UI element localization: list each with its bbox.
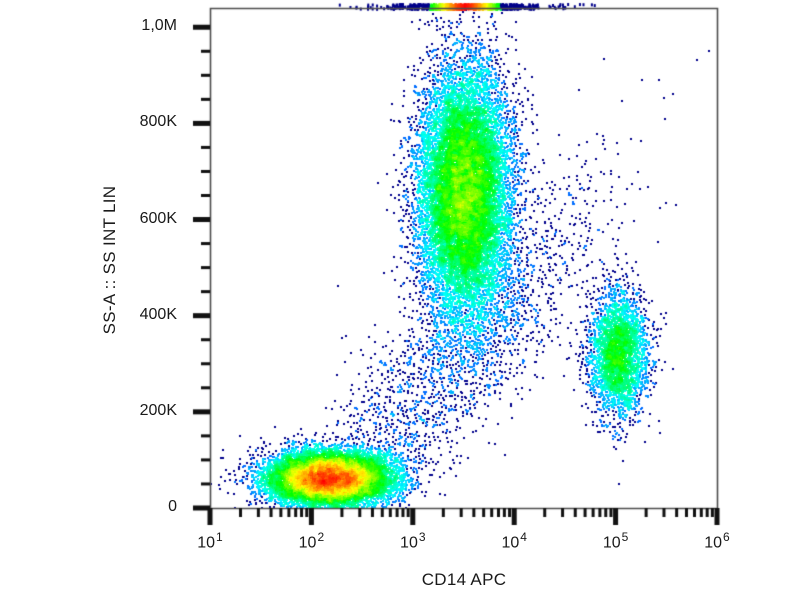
x-tick-label: 106 <box>687 530 747 552</box>
x-tick-label: 101 <box>180 530 240 552</box>
x-axis-title: CD14 APC <box>210 570 718 590</box>
x-tick-label: 104 <box>484 530 544 552</box>
x-tick-label: 105 <box>586 530 646 552</box>
flow-cytometry-dot-plot: SS-A :: SS INT LIN CD14 APC 0200K400K600… <box>0 0 800 600</box>
x-tick-label: 102 <box>281 530 341 552</box>
y-tick-label: 400K <box>97 306 177 324</box>
x-tick-label: 103 <box>383 530 443 552</box>
y-tick-label: 800K <box>97 113 177 131</box>
y-tick-label: 600K <box>97 210 177 228</box>
y-tick-label: 200K <box>97 402 177 420</box>
y-tick-label: 0 <box>97 498 177 516</box>
y-axis-title: SS-A :: SS INT LIN <box>100 110 120 410</box>
y-tick-label: 1,0M <box>97 17 177 35</box>
